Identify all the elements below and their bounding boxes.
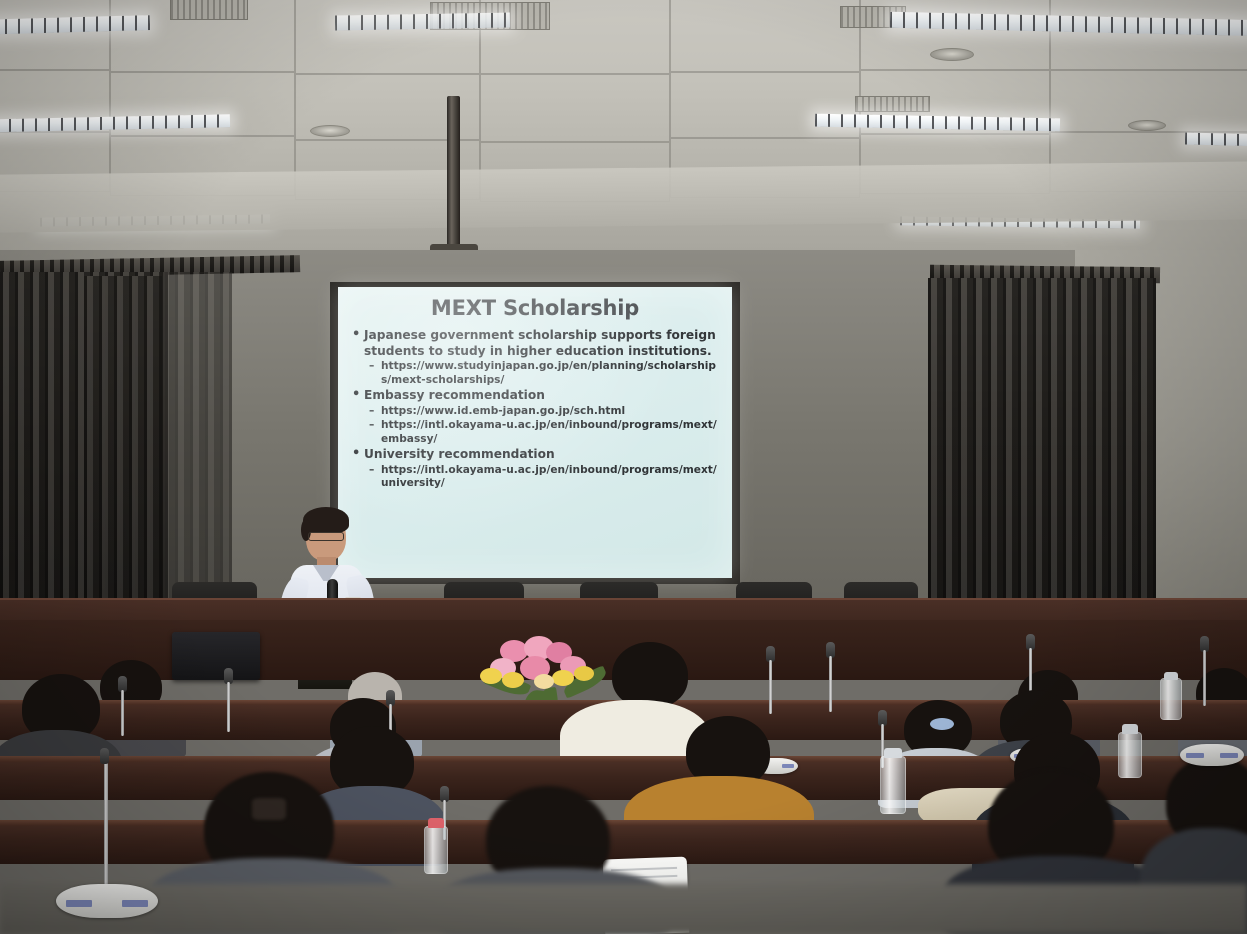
water-bottle [424,826,448,874]
bottle-cap [1164,672,1178,680]
slide-bullet: Japanese government scholarship supports… [350,328,720,359]
slide-sub-bullet-url: https://intl.okayama-u.ac.jp/en/inbound/… [350,464,720,491]
bottle-cap [428,818,444,828]
microphone-base [1180,744,1244,766]
audience-head [612,642,688,708]
ceiling-light-fixture [335,12,510,30]
stage-curtain-right [928,278,1156,630]
presenter-monitor [172,632,260,680]
projector-mount-pole [447,96,460,248]
hair-clip [252,798,286,820]
stage-curtain-center-back [160,272,232,624]
ceiling-downlight [930,48,974,61]
slide-sub-bullet-url: https://www.id.emb-japan.go.jp/sch.html [350,405,720,418]
microphone-capsule [100,748,109,764]
ceiling-downlight [1128,120,1166,131]
slide-title: MEXT Scholarship [350,296,720,320]
bottle-cap [884,748,902,758]
microphone-stem [227,682,230,732]
ceiling [0,0,1247,252]
ceiling-vent [855,96,930,112]
foreground-desk [0,884,1247,934]
microphone-stem [121,690,124,736]
slide-bullet: Embassy recommendation [350,388,720,404]
hair-tie [930,718,954,730]
ceiling-vent [170,0,248,20]
stage-curtain-left-inner [84,276,162,628]
bottle-cap [1122,724,1138,734]
microphone-stem [829,656,832,712]
water-bottle [1160,678,1182,720]
microphone-stem [104,762,108,888]
microphone-stem [1203,650,1206,706]
slide-bullet: University recommendation [350,447,720,463]
microphone-base [56,884,158,918]
ceiling-downlight [310,125,350,137]
water-tumbler [880,756,906,814]
eyeglasses [308,532,344,541]
slide-sub-bullet-url: https://intl.okayama-u.ac.jp/en/inbound/… [350,419,720,446]
slide-sub-bullet-url: https://www.studyinjapan.go.jp/en/planni… [350,360,720,387]
lecture-hall-photo: MEXT Scholarship Japanese government sch… [0,0,1247,934]
microphone-stem [769,660,772,714]
water-bottle [1118,732,1142,778]
